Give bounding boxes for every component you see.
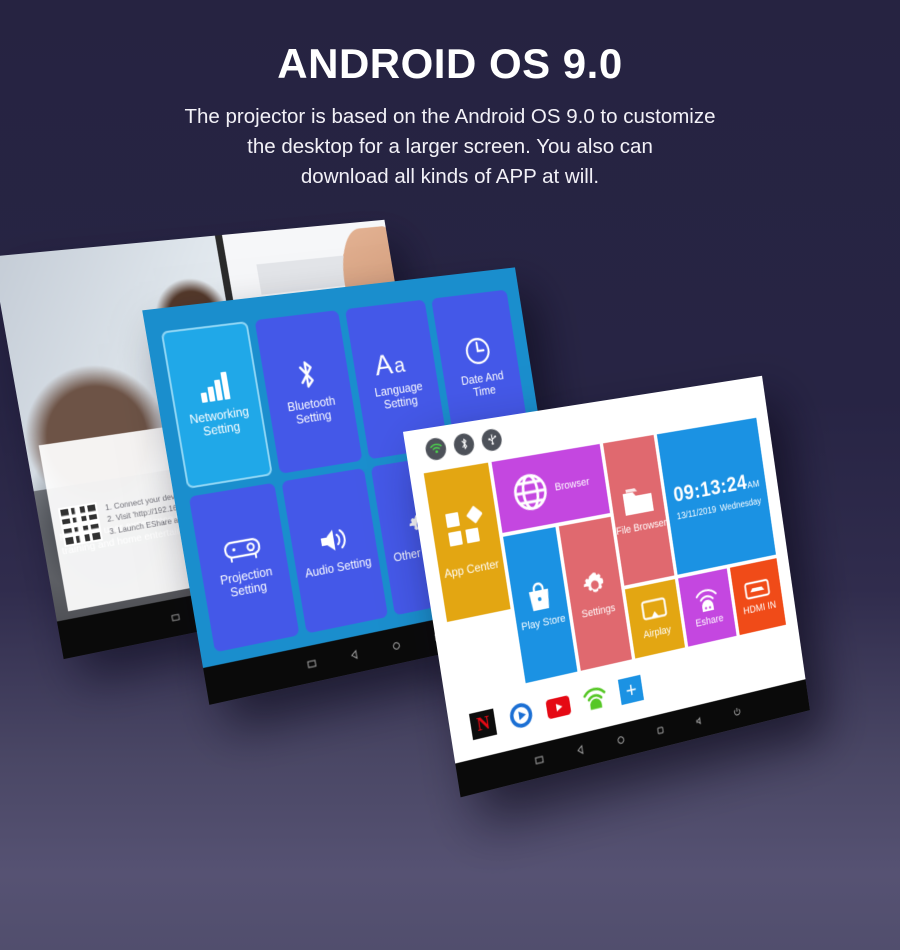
media-player-icon[interactable] [508, 700, 536, 731]
bluetooth-icon[interactable] [453, 432, 476, 457]
back-icon[interactable] [350, 649, 360, 660]
clock-ampm: AM [747, 479, 761, 491]
usb-icon[interactable] [480, 428, 503, 453]
screenshot-icon[interactable] [307, 658, 318, 669]
device-bezel: App Center Browser [403, 376, 810, 798]
settings-tile-label: Projection Setting [207, 562, 288, 604]
header: ANDROID OS 9.0 The projector is based on… [0, 0, 900, 191]
clock-weekday: Wednesday [719, 497, 762, 515]
gear-icon [579, 567, 611, 603]
tile-label: Eshare [695, 612, 724, 629]
screenshot-icon[interactable] [170, 613, 180, 623]
screenshot-icon[interactable] [534, 755, 544, 767]
shopping-bag-icon [524, 578, 555, 614]
subtitle-line-1: The projector is based on the Android OS… [70, 102, 830, 132]
signal-bars-icon [196, 370, 233, 404]
bluetooth-icon [292, 356, 321, 392]
clock-date: 13/11/2019 [676, 505, 717, 523]
settings-tile-label: Language Setting [362, 378, 436, 415]
settings-tile-bluetooth[interactable]: Bluetooth Setting [255, 310, 363, 474]
globe-icon [510, 469, 551, 514]
projector-icon [221, 534, 263, 566]
settings-tile-label: Audio Setting [304, 555, 372, 581]
settings-tile-label: Networking Setting [181, 403, 259, 442]
eshare-wifi-icon[interactable] [582, 683, 609, 714]
folder-icon [620, 484, 656, 520]
tile-label: HDMI IN [743, 599, 777, 617]
tile-label: Browser [554, 476, 590, 494]
settings-tile-projection[interactable]: Projection Setting [188, 483, 299, 653]
tile-label: Airplay [643, 624, 672, 641]
page-title: ANDROID OS 9.0 [0, 42, 900, 86]
qr-code-icon [58, 502, 103, 547]
tile-airplay[interactable]: Airplay [625, 579, 686, 658]
speaker-icon [316, 523, 351, 557]
subtitle-line-2: the desktop for a larger screen. You als… [70, 132, 830, 162]
settings-tile-label: Date And Time [448, 367, 519, 403]
wifi-icon[interactable] [424, 436, 448, 461]
launcher-home-screen[interactable]: App Center Browser [403, 376, 810, 798]
youtube-icon[interactable] [545, 691, 572, 722]
settings-tile-audio[interactable]: Audio Setting [282, 468, 388, 634]
page-subtitle: The projector is based on the Android OS… [70, 102, 830, 191]
settings-tile-label: Bluetooth Setting [273, 392, 351, 430]
subtitle-line-3: download all kinds of APP at will. [70, 162, 830, 192]
svg-text:a: a [392, 354, 406, 378]
add-app-icon[interactable]: + [618, 675, 644, 705]
hdmi-icon [743, 577, 771, 602]
tile-hdmi-in[interactable]: HDMI IN [730, 558, 786, 635]
svg-text:A: A [372, 348, 395, 379]
tile-label: Settings [581, 602, 616, 620]
airplay-icon [640, 596, 668, 625]
tile-label: App Center [443, 557, 500, 581]
back-icon[interactable] [575, 745, 585, 757]
app-center-icon [443, 504, 487, 552]
home-icon[interactable] [616, 735, 626, 746]
tile-label: Play Store [521, 613, 567, 634]
clock-icon [463, 334, 494, 367]
home-icon[interactable] [391, 640, 401, 651]
tile-eshare[interactable]: Eshare [678, 568, 736, 646]
recents-icon[interactable] [656, 725, 666, 736]
power-icon[interactable] [733, 706, 742, 717]
settings-tile-networking[interactable]: Networking Setting [160, 321, 273, 489]
eshare-icon [693, 585, 720, 614]
language-aa-icon: A a [372, 346, 416, 379]
netflix-icon[interactable]: N [469, 709, 497, 741]
volume-icon[interactable] [695, 716, 704, 727]
tile-label: File Browser [616, 517, 668, 538]
tile-clock[interactable]: 09:13:24 AM 13/11/2019 Wednesday [657, 418, 776, 575]
